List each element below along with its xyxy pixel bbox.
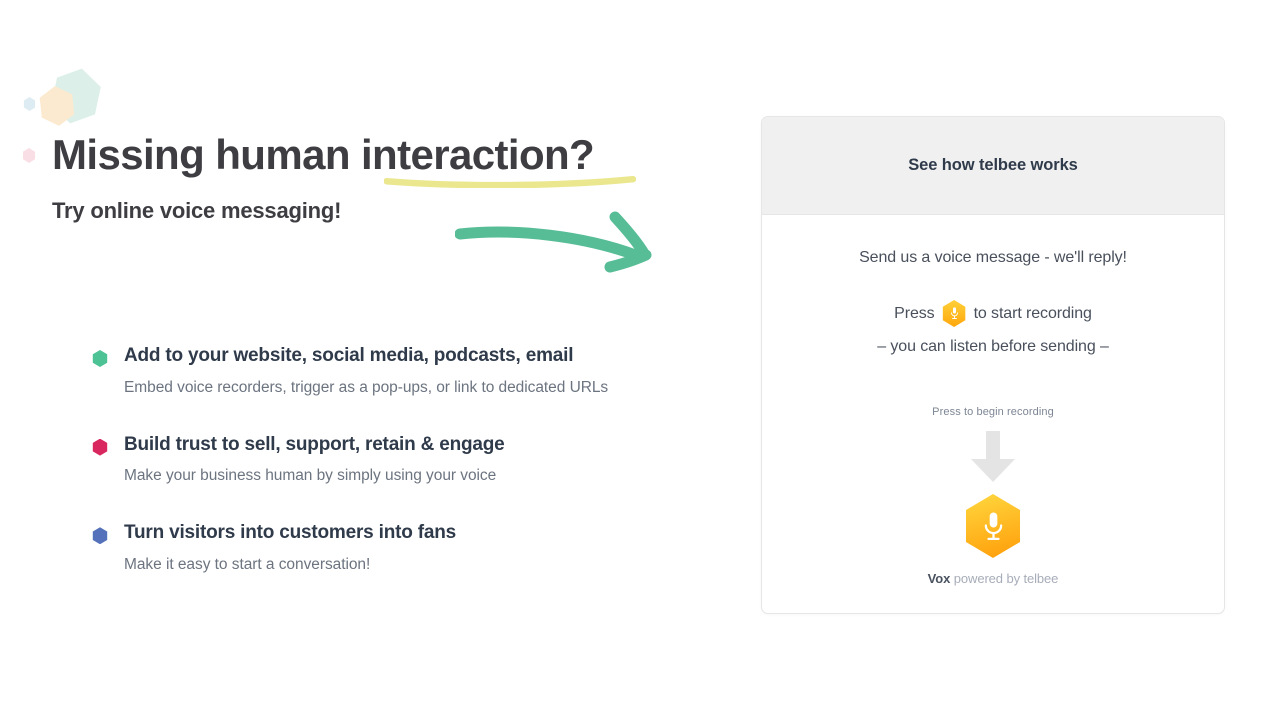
feature-item-1: Add to your website, social media, podca…: [92, 344, 732, 399]
powered-by-label: powered by telbee: [954, 571, 1059, 586]
feature-list: Add to your website, social media, podca…: [92, 344, 732, 576]
feature-title: Build trust to sell, support, retain & e…: [124, 433, 732, 458]
hero-text-column: Missing human interaction? Try online vo…: [52, 130, 732, 224]
arrow-down-icon: [965, 429, 1021, 485]
press-prefix-label: Press: [894, 305, 934, 323]
inline-microphone-icon[interactable]: [942, 300, 967, 327]
widget-intro-text: Send us a voice message - we'll reply!: [762, 249, 1224, 267]
hexagon-blue-decoration: [23, 97, 36, 111]
widget-listen-note: – you can listen before sending –: [762, 338, 1224, 356]
feature-subtitle: Make your business human by simply using…: [124, 466, 732, 487]
widget-press-instruction: Press to start recording: [762, 300, 1224, 327]
microphone-icon: [981, 511, 1006, 542]
record-button[interactable]: [963, 494, 1023, 558]
telbee-widget-card: See how telbee works Send us a voice mes…: [761, 116, 1225, 614]
hexagon-bullet-icon: [92, 350, 108, 367]
feature-title: Turn visitors into customers into fans: [124, 521, 732, 546]
widget-header: See how telbee works: [762, 117, 1224, 215]
press-suffix-label: to start recording: [974, 305, 1092, 323]
headline-wrapper: Missing human interaction?: [52, 130, 594, 180]
hexagon-bullet-icon: [92, 527, 108, 544]
microphone-icon: [949, 307, 960, 320]
record-hint-label: Press to begin recording: [762, 406, 1224, 418]
feature-title: Add to your website, social media, podca…: [124, 344, 732, 369]
feature-subtitle: Make it easy to start a conversation!: [124, 555, 732, 576]
vox-brand-label: Vox: [928, 571, 951, 586]
hexagon-pink-decoration: [22, 148, 36, 163]
widget-footer: Vox powered by telbee: [762, 571, 1224, 586]
page-root: Missing human interaction? Try online vo…: [0, 0, 1280, 720]
page-subtitle: Try online voice messaging!: [52, 198, 732, 224]
feature-item-2: Build trust to sell, support, retain & e…: [92, 433, 732, 488]
hexagon-bullet-icon: [92, 439, 108, 456]
feature-item-3: Turn visitors into customers into fans M…: [92, 521, 732, 576]
feature-subtitle: Embed voice recorders, trigger as a pop-…: [124, 378, 732, 399]
page-title: Missing human interaction?: [52, 130, 594, 180]
widget-header-title: See how telbee works: [908, 156, 1077, 175]
widget-body: Send us a voice message - we'll reply! P…: [762, 215, 1224, 613]
